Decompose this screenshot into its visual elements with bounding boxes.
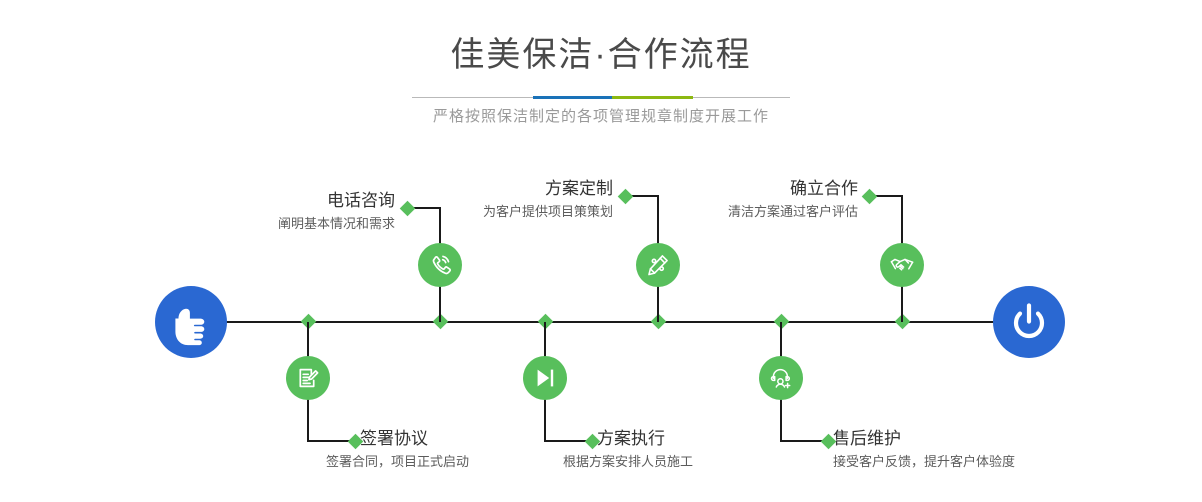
- sign-document-icon: [295, 365, 321, 391]
- page-subtitle: 严格按照保洁制定的各项管理规章制度开展工作: [0, 106, 1202, 128]
- step2-icon-badge: [286, 356, 330, 400]
- step4-desc: 根据方案安排人员施工: [563, 452, 693, 472]
- step5-label-marker: [862, 189, 878, 205]
- play-skip-icon: [532, 365, 558, 391]
- step5-desc: 清洁方案通过客户评估: [590, 202, 858, 222]
- power-button-icon: [993, 286, 1065, 358]
- step1-icon-badge: [418, 243, 462, 287]
- step2-desc: 签署合同，项目正式启动: [326, 452, 469, 472]
- step3-icon-badge: [636, 243, 680, 287]
- pointing-hand-icon: [155, 286, 227, 358]
- step4-icon-badge: [523, 356, 567, 400]
- step5-icon-badge: [880, 243, 924, 287]
- step3-title: 方案定制: [345, 178, 613, 200]
- pencil-edit-icon: [645, 252, 671, 278]
- step4-title: 方案执行: [597, 428, 665, 450]
- customer-support-icon: [768, 365, 794, 391]
- step2-title: 签署协议: [360, 428, 428, 450]
- handshake-icon: [889, 252, 915, 278]
- timeline-end-node: [993, 286, 1065, 358]
- divider-blue-segment: [533, 96, 612, 99]
- phone-call-icon: [427, 252, 453, 278]
- cooperation-flow-infographic: 佳美保洁·合作流程 严格按照保洁制定的各项管理规章制度开展工作: [0, 0, 1202, 502]
- page-title: 佳美保洁·合作流程: [0, 34, 1202, 76]
- divider-green-segment: [612, 96, 693, 99]
- step6-title: 售后维护: [833, 428, 901, 450]
- step6-desc: 接受客户反馈，提升客户体验度: [833, 452, 1015, 472]
- timeline-start-node: [155, 286, 227, 358]
- title-divider: [412, 96, 790, 99]
- step6-icon-badge: [759, 356, 803, 400]
- step5-title: 确立合作: [590, 178, 858, 200]
- step3-desc: 为客户提供项目策策划: [345, 202, 613, 222]
